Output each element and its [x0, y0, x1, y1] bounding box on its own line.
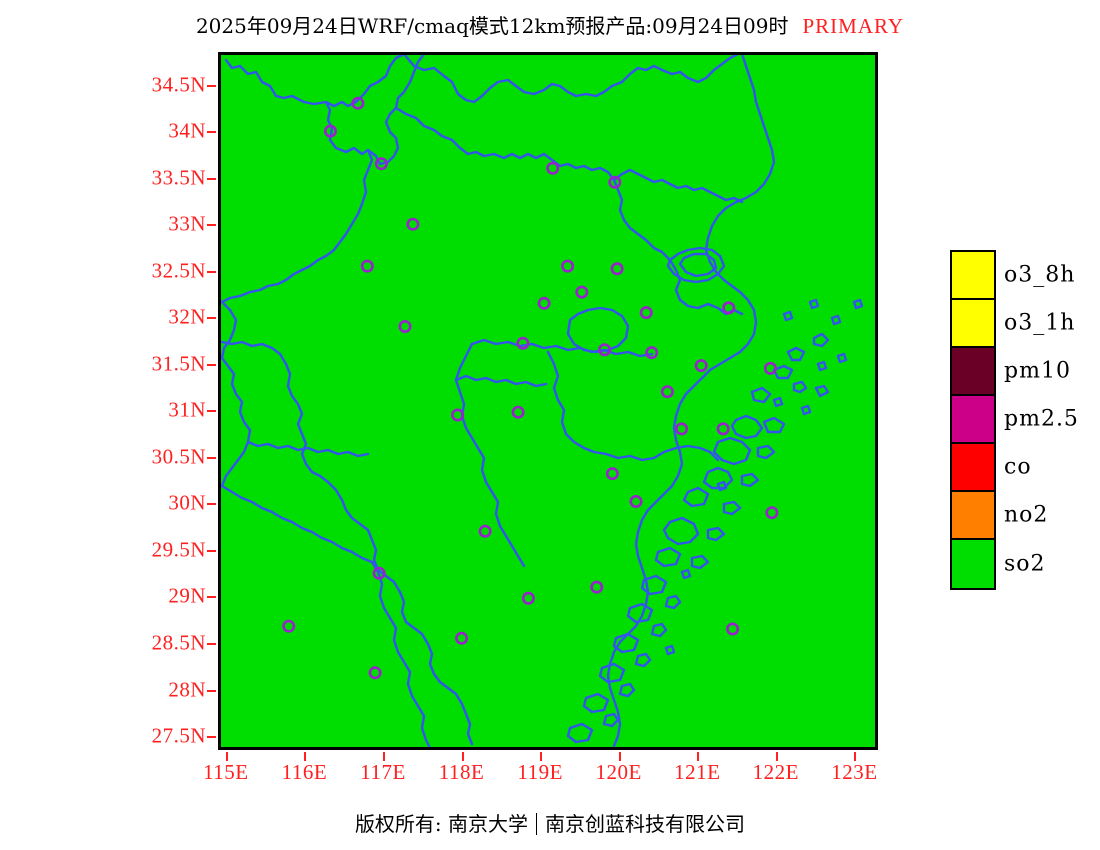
y-tick-label: 31.5N [152, 351, 206, 376]
x-tick-label: 119E [517, 760, 563, 785]
chart-title-suffix: PRIMARY [803, 14, 905, 38]
x-axis-labels: 115E116E117E118E119E120E121E122E123E [218, 760, 878, 790]
y-tick-label: 28N [168, 677, 206, 702]
y-tick [207, 643, 216, 645]
legend-label: no2 [1004, 503, 1048, 528]
legend-swatch-o38h[interactable]: o3_8h [952, 252, 994, 300]
legend-swatch-pm10[interactable]: pm10 [952, 348, 994, 396]
y-tick-label: 29N [168, 584, 206, 609]
footer-divider [536, 813, 537, 835]
y-tick [207, 224, 216, 226]
pollutant-legend[interactable]: o3_8ho3_1hpm10pm2.5cono2so2 [950, 250, 996, 590]
y-tick [207, 736, 216, 738]
legend-label: o3_8h [1004, 263, 1075, 288]
legend-label: co [1004, 455, 1032, 480]
y-tick [207, 596, 216, 598]
footer-right: 南京创蓝科技有限公司 [545, 812, 745, 836]
y-tick-label: 33.5N [152, 165, 206, 190]
footer-left: 版权所有: 南京大学 [355, 812, 528, 836]
y-tick [207, 410, 216, 412]
y-tick-label: 34.5N [152, 72, 206, 97]
legend-swatch-so2[interactable]: so2 [952, 540, 994, 588]
y-tick-label: 33N [168, 212, 206, 237]
x-tick-label: 121E [674, 760, 720, 785]
y-axis-labels: 34.5N34N33.5N33N32.5N32N31.5N31N30.5N30N… [0, 52, 206, 750]
x-tick-label: 116E [282, 760, 328, 785]
y-tick-label: 32N [168, 305, 206, 330]
map-plot-area[interactable] [218, 52, 878, 750]
legend-label: pm2.5 [1004, 407, 1079, 432]
legend-swatch-pm25[interactable]: pm2.5 [952, 396, 994, 444]
x-tick-label: 117E [360, 760, 406, 785]
y-tick-label: 28.5N [152, 630, 206, 655]
y-tick [207, 364, 216, 366]
y-tick [207, 178, 216, 180]
x-tick-label: 115E [203, 760, 249, 785]
y-tick-label: 30N [168, 491, 206, 516]
map-canvas[interactable] [218, 52, 878, 750]
y-tick-label: 27.5N [152, 724, 206, 749]
legend-label: o3_1h [1004, 311, 1075, 336]
x-tick-label: 120E [596, 760, 642, 785]
legend-swatch-no2[interactable]: no2 [952, 492, 994, 540]
chart-title-main: 2025年09月24日WRF/cmaq模式12km预报产品:09月24日09时 [196, 14, 789, 38]
y-tick-label: 29.5N [152, 537, 206, 562]
legend-swatch-o31h[interactable]: o3_1h [952, 300, 994, 348]
y-tick [207, 550, 216, 552]
chart-title: 2025年09月24日WRF/cmaq模式12km预报产品:09月24日09时P… [0, 10, 1100, 39]
y-tick [207, 317, 216, 319]
x-tick-label: 118E [439, 760, 485, 785]
x-tick-label: 122E [753, 760, 799, 785]
y-tick-label: 31N [168, 398, 206, 423]
copyright-footer: 版权所有: 南京大学南京创蓝科技有限公司 [0, 808, 1100, 837]
y-tick [207, 690, 216, 692]
y-tick [207, 457, 216, 459]
y-tick-label: 32.5N [152, 258, 206, 283]
y-tick [207, 131, 216, 133]
legend-label: pm10 [1004, 359, 1071, 384]
y-tick [207, 271, 216, 273]
y-tick-label: 34N [168, 119, 206, 144]
y-tick [207, 85, 216, 87]
y-tick-label: 30.5N [152, 444, 206, 469]
legend-label: so2 [1004, 552, 1046, 577]
legend-swatch-co[interactable]: co [952, 444, 994, 492]
x-tick-label: 123E [831, 760, 877, 785]
y-tick [207, 503, 216, 505]
